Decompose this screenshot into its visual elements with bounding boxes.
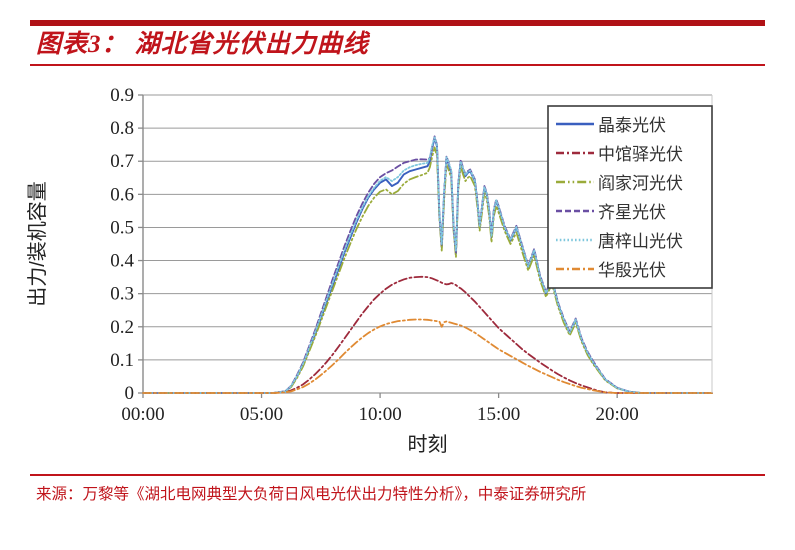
x-tick-label-2: 10:00 <box>358 404 401 425</box>
figure-page: 图表3： 湖北省光伏出力曲线 00.10.20.30.40.50.60.70.8… <box>0 0 795 550</box>
source-note: 来源：万黎等《湖北电网典型大负荷日风电光伏出力特性分析》，中泰证券研究所 <box>36 482 758 507</box>
y-tick-label-9: 0.9 <box>110 85 134 106</box>
y-tick-label-2: 0.2 <box>110 317 134 338</box>
y-tick-label-4: 0.4 <box>110 251 134 272</box>
y-tick-label-8: 0.8 <box>110 118 134 139</box>
legend-label-1[interactable]: 中馆驿光伏 <box>598 145 683 164</box>
header-top-rule <box>30 20 765 26</box>
legend-label-0[interactable]: 晶泰光伏 <box>598 116 666 135</box>
y-axis-label: 出力/装机容量 <box>26 181 49 307</box>
y-tick-label-5: 0.5 <box>110 217 134 238</box>
figure-title: 图表3： 湖北省光伏出力曲线 <box>36 28 736 62</box>
header-bottom-rule <box>30 64 765 66</box>
y-tick-label-3: 0.3 <box>110 284 134 305</box>
x-axis-label: 时刻 <box>408 433 448 456</box>
legend: 晶泰光伏中馆驿光伏阎家河光伏齐星光伏唐梓山光伏华殷光伏 <box>548 106 712 288</box>
x-tick-label-1: 05:00 <box>240 404 283 425</box>
y-tick-label-6: 0.6 <box>110 184 134 205</box>
x-tick-label-0: 00:00 <box>121 404 164 425</box>
y-tick-label-1: 0.1 <box>110 350 134 371</box>
y-tick-label-0: 0 <box>125 383 135 404</box>
y-tick-label-7: 0.7 <box>110 151 134 172</box>
legend-label-2[interactable]: 阎家河光伏 <box>598 174 683 193</box>
footer-top-rule <box>30 474 765 476</box>
pv-output-curve-chart: 00.10.20.30.40.50.60.70.80.900:0005:0010… <box>0 68 795 468</box>
legend-label-4[interactable]: 唐梓山光伏 <box>598 231 683 251</box>
legend-label-3[interactable]: 齐星光伏 <box>598 203 666 222</box>
x-tick-label-3: 15:00 <box>477 404 520 425</box>
legend-label-5[interactable]: 华殷光伏 <box>598 261 666 280</box>
chart-container: 00.10.20.30.40.50.60.70.80.900:0005:0010… <box>0 68 795 468</box>
x-tick-label-4: 20:00 <box>596 404 639 425</box>
